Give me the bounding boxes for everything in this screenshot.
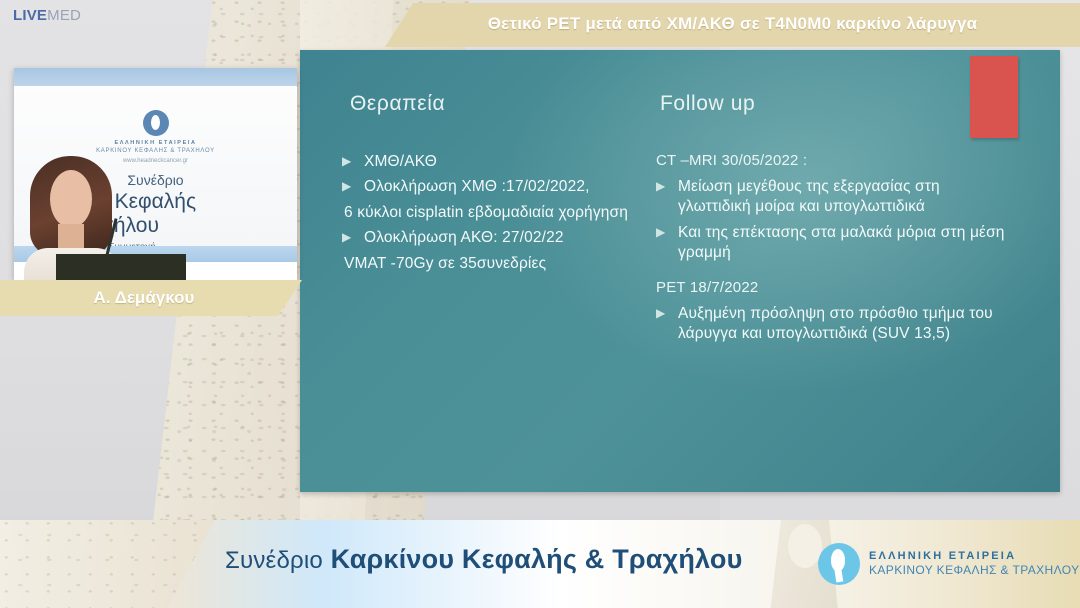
spacer <box>652 269 1012 279</box>
bullet-text: Αυξημένη πρόσληψη στο πρόσθιο τμήμα του … <box>678 304 1012 345</box>
triangle-bullet-icon: ▶ <box>338 228 364 246</box>
bullet-text: ΧΜΘ/ΑΚΘ <box>364 152 683 172</box>
group-label: CT –MRI 30/05/2022 : <box>656 152 1012 169</box>
presentation-title: Θετικό PET μετά από ΧΜ/ΑΚΘ σε T4N0M0 καρ… <box>385 14 1080 34</box>
backdrop-society-line1: ΕΛΛΗΝΙΚΗ ΕΤΑΙΡΕΙΑ <box>14 140 297 146</box>
bullet-item: ▶ Μείωση μεγέθους της εξεργασίας στη γλω… <box>652 177 1012 218</box>
banner-stone-texture <box>0 520 215 608</box>
triangle-bullet-icon: ▶ <box>652 304 678 322</box>
bullet-item: ▶ Ολοκλήρωση ΧΜΘ :17/02/2022, <box>338 177 683 197</box>
speaker-video[interactable]: ΕΛΛΗΝΙΚΗ ΕΤΑΙΡΕΙΑ ΚΑΡΚΙΝΟΥ ΚΕΦΑΛΗΣ & ΤΡΑ… <box>14 68 297 280</box>
group-label: PET 18/7/2022 <box>656 279 1012 296</box>
speaker-face <box>50 170 92 228</box>
society-ribbon-icon <box>818 543 860 585</box>
slide-left-heading: Θεραπεία <box>350 92 683 116</box>
society-text: ΕΛΛΗΝΙΚΗ ΕΤΑΙΡΕΙΑ ΚΑΡΚΙΝΟΥ ΚΕΦΑΛΗΣ & ΤΡΑ… <box>869 550 1080 579</box>
video-room-ceiling <box>14 68 297 86</box>
bullet-item: ▶ Ολοκλήρωση ΑΚΘ: 27/02/22 <box>338 228 683 248</box>
bullet-item: ▶ Αυξημένη πρόσληψη στο πρόσθιο τμήμα το… <box>652 304 1012 345</box>
slide-right-heading: Follow up <box>660 92 1012 116</box>
livemed-logo-med: MED <box>47 7 81 24</box>
podium <box>56 254 186 280</box>
bullet-text: Ολοκλήρωση ΑΚΘ: 27/02/22 <box>364 228 683 248</box>
webinar-player: LIVEMED Θετικό PET μετά από ΧΜ/ΑΚΘ σε T4… <box>0 0 1080 608</box>
slide-column-left: Θεραπεία ▶ ΧΜΘ/ΑΚΘ ▶ Ολοκλήρωση ΧΜΘ :17/… <box>338 92 683 279</box>
slide-canvas: Θεραπεία ▶ ΧΜΘ/ΑΚΘ ▶ Ολοκλήρωση ΧΜΘ :17/… <box>300 50 1060 492</box>
bullet-text: Και της επέκτασης στα μαλακά μόρια στη μ… <box>678 223 1012 264</box>
society-logo-icon <box>143 110 169 136</box>
bullet-continuation-text: 6 κύκλοι cisplatin εβδομαδιαία χορήγηση <box>344 203 683 223</box>
backdrop-society-line2: ΚΑΡΚΙΝΟΥ ΚΕΦΑΛΗΣ & ΤΡΑΧΗΛΟΥ <box>14 148 297 154</box>
triangle-bullet-icon: ▶ <box>652 223 678 241</box>
speaker-name-bar: Α. Δεμάγκου <box>0 280 302 316</box>
speaker-neck <box>58 224 84 250</box>
banner-title-bold: Καρκίνου Κεφαλής & Τραχήλου <box>331 544 743 574</box>
triangle-bullet-icon: ▶ <box>652 177 678 195</box>
banner-title-thin: Συνέδριο <box>225 547 323 574</box>
presentation-title-bar: Θετικό PET μετά από ΧΜ/ΑΚΘ σε T4N0M0 καρ… <box>385 3 1080 47</box>
banner-title: Συνέδριο Καρκίνου Κεφαλής & Τραχήλου <box>225 544 743 575</box>
bullet-item: ▶ Και της επέκτασης στα μαλακά μόρια στη… <box>652 223 1012 264</box>
slide-column-right: Follow up CT –MRI 30/05/2022 : ▶ Μείωση … <box>652 92 1012 350</box>
livemed-logo-live: LIVE <box>13 7 47 24</box>
livemed-logo[interactable]: LIVEMED <box>13 7 81 24</box>
bullet-text: Ολοκλήρωση ΧΜΘ :17/02/2022, <box>364 177 683 197</box>
triangle-bullet-icon: ▶ <box>338 177 364 195</box>
society-line1: ΕΛΛΗΝΙΚΗ ΕΤΑΙΡΕΙΑ <box>869 550 1080 564</box>
bullet-item: ▶ ΧΜΘ/ΑΚΘ <box>338 152 683 172</box>
triangle-bullet-icon: ▶ <box>338 152 364 170</box>
speaker-name: Α. Δεμάγκου <box>0 288 288 308</box>
society-branding: ΕΛΛΗΝΙΚΗ ΕΤΑΙΡΕΙΑ ΚΑΡΚΙΝΟΥ ΚΕΦΑΛΗΣ & ΤΡΑ… <box>818 543 1080 585</box>
bullet-text: Μείωση μεγέθους της εξεργασίας στη γλωττ… <box>678 177 1012 218</box>
bullet-continuation-text: VMAT -70Gy σε 35συνεδρίες <box>344 254 683 274</box>
society-line2: ΚΑΡΚΙΝΟΥ ΚΕΦΑΛΗΣ & ΤΡΑΧΗΛΟΥ <box>869 563 1080 578</box>
